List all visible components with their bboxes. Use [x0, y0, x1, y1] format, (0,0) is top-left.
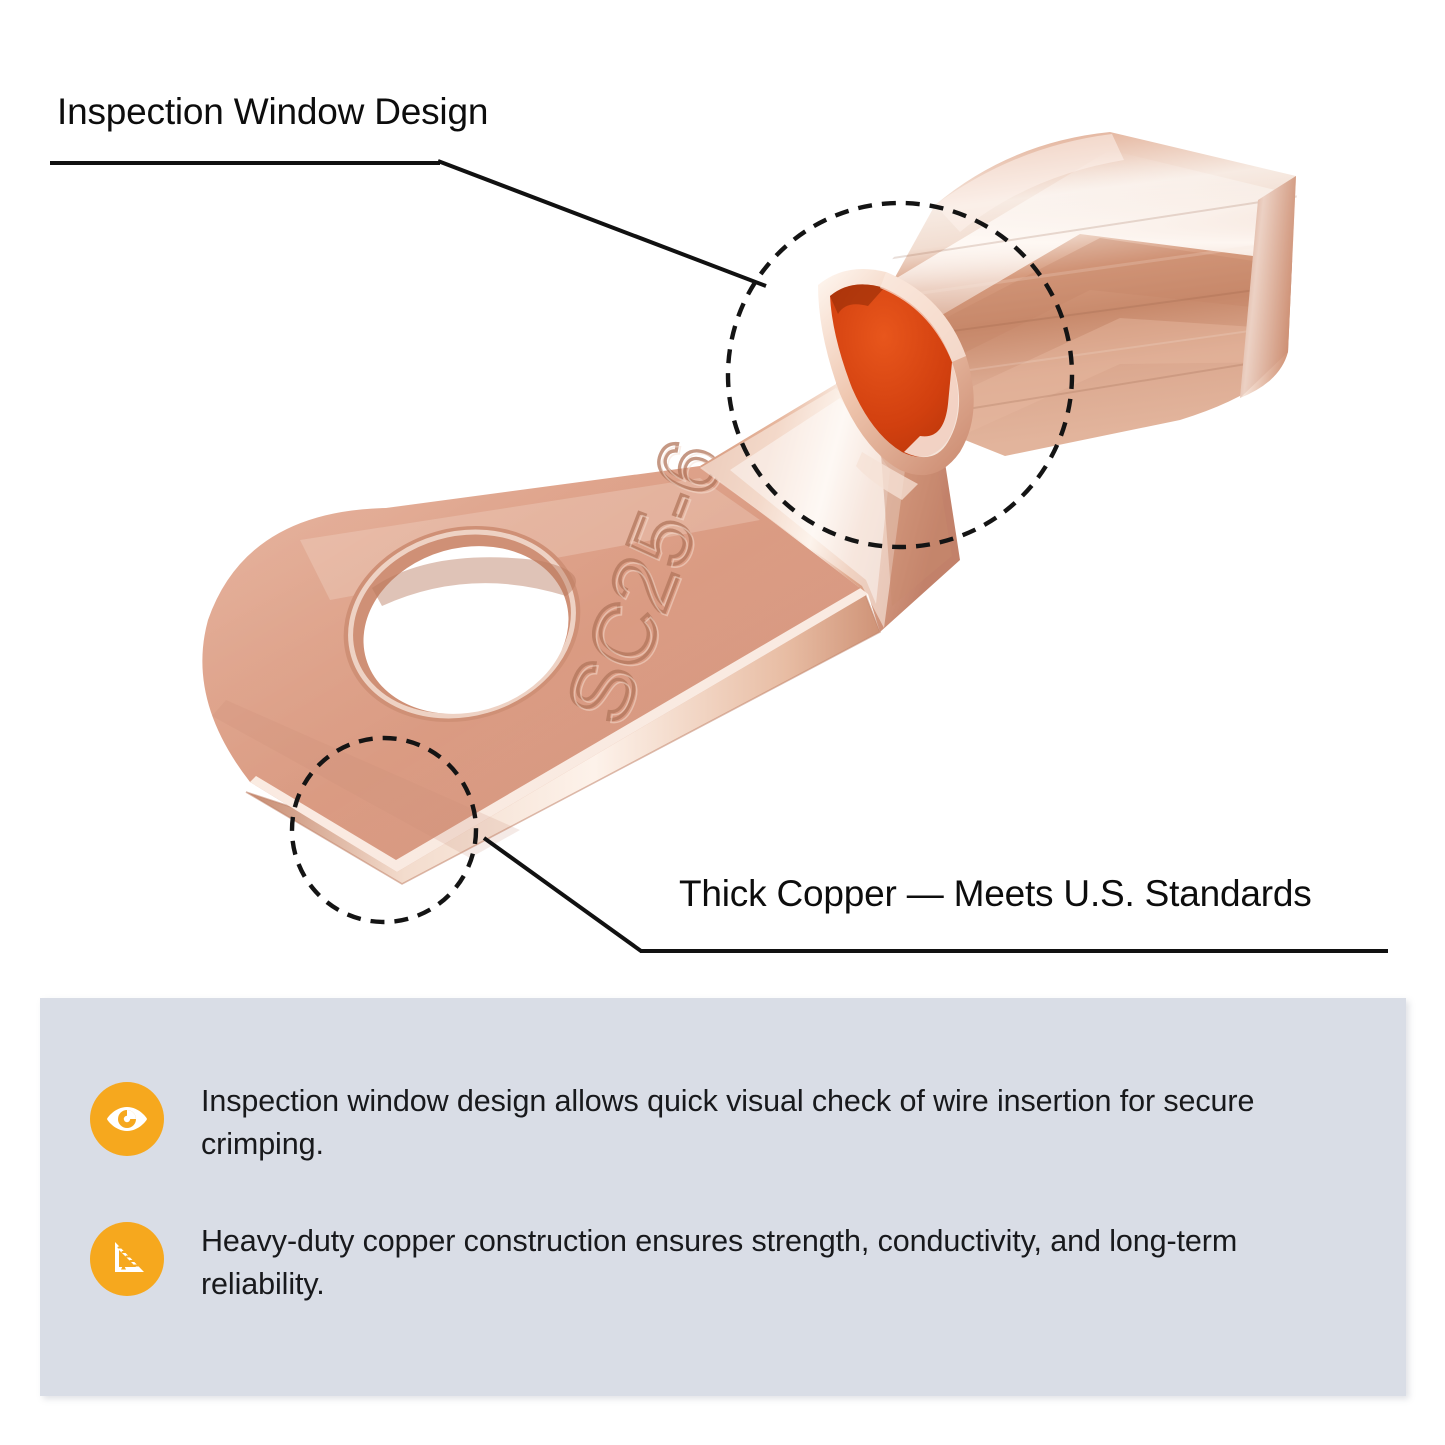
feature-text: Heavy-duty copper construction ensures s…	[201, 1220, 1311, 1306]
copper-lug-illustration: SC25-6 SC25-6	[0, 0, 1445, 985]
eye-icon	[90, 1082, 164, 1156]
feature-item-inspection-window: Inspection window design allows quick vi…	[90, 1080, 1311, 1166]
infographic-stage: SC25-6 SC25-6	[0, 0, 1445, 1445]
product-photo: SC25-6 SC25-6	[0, 0, 1445, 985]
callout-rule-top	[50, 161, 440, 165]
feature-text: Inspection window design allows quick vi…	[201, 1080, 1311, 1166]
callout-label-thick-copper: Thick Copper — Meets U.S. Standards	[679, 872, 1312, 916]
callout-leader-top	[438, 161, 766, 286]
ruler-triangle-icon	[90, 1222, 164, 1296]
callout-leader-bottom	[484, 838, 641, 951]
callout-label-inspection-window: Inspection Window Design	[57, 90, 488, 134]
feature-panel: Inspection window design allows quick vi…	[40, 998, 1406, 1396]
feature-item-thick-copper: Heavy-duty copper construction ensures s…	[90, 1220, 1311, 1306]
callout-rule-bottom	[640, 949, 1388, 953]
